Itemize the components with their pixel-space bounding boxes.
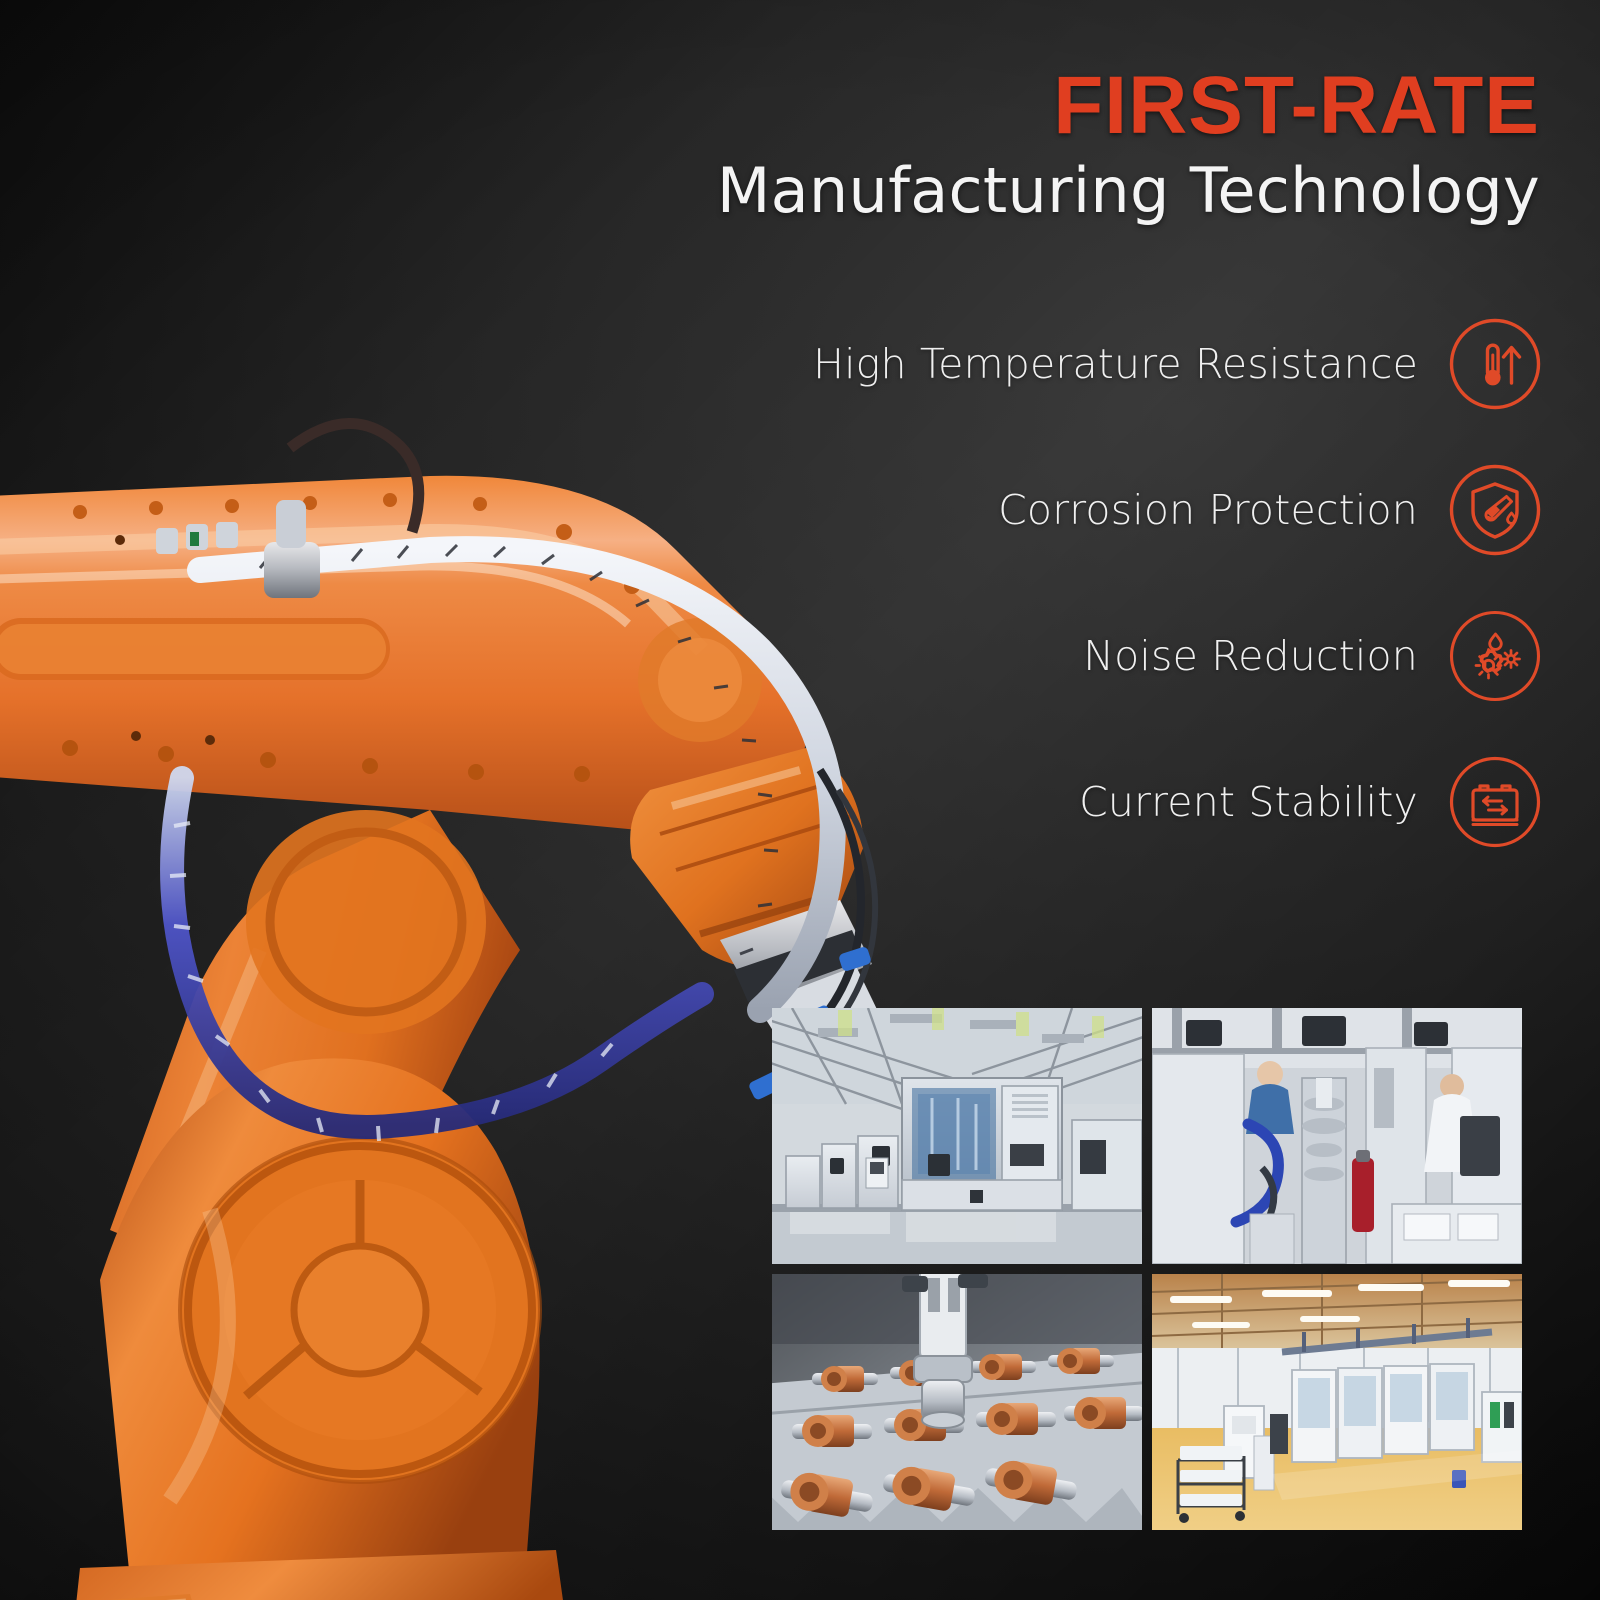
feature-item-noise-reduction[interactable]: Noise Reduction: [822, 608, 1542, 704]
feature-item-corrosion-protection[interactable]: Corrosion Protection: [822, 462, 1542, 558]
feature-label: Current Stability: [1079, 778, 1418, 826]
poster-canvas: FIRST-RATE Manufacturing Technology High…: [0, 0, 1600, 1600]
feature-label: Noise Reduction: [1083, 632, 1418, 680]
gallery-tile-4[interactable]: [1152, 1274, 1522, 1530]
headline-subhead: Manufacturing Technology: [717, 156, 1540, 225]
feature-label: High Temperature Resistance: [813, 340, 1418, 388]
battery-recharge-icon: [1448, 755, 1542, 849]
gears-droplet-icon: [1448, 609, 1542, 703]
thermometer-rising-icon: [1448, 317, 1542, 411]
feature-item-high-temperature-resistance[interactable]: High Temperature Resistance: [822, 316, 1542, 412]
header-block: FIRST-RATE Manufacturing Technology: [717, 64, 1540, 225]
gallery-tile-2[interactable]: [1152, 1008, 1522, 1264]
feature-list: High Temperature Resistance Corrosion Pr…: [822, 316, 1542, 900]
shield-test-tube-icon: [1448, 463, 1542, 557]
gallery-grid: [772, 1008, 1522, 1530]
feature-label: Corrosion Protection: [998, 486, 1418, 534]
gallery-tile-1[interactable]: [772, 1008, 1142, 1264]
gallery-tile-3[interactable]: [772, 1274, 1142, 1530]
feature-item-current-stability[interactable]: Current Stability: [822, 754, 1542, 850]
headline-kicker: FIRST-RATE: [717, 64, 1540, 148]
